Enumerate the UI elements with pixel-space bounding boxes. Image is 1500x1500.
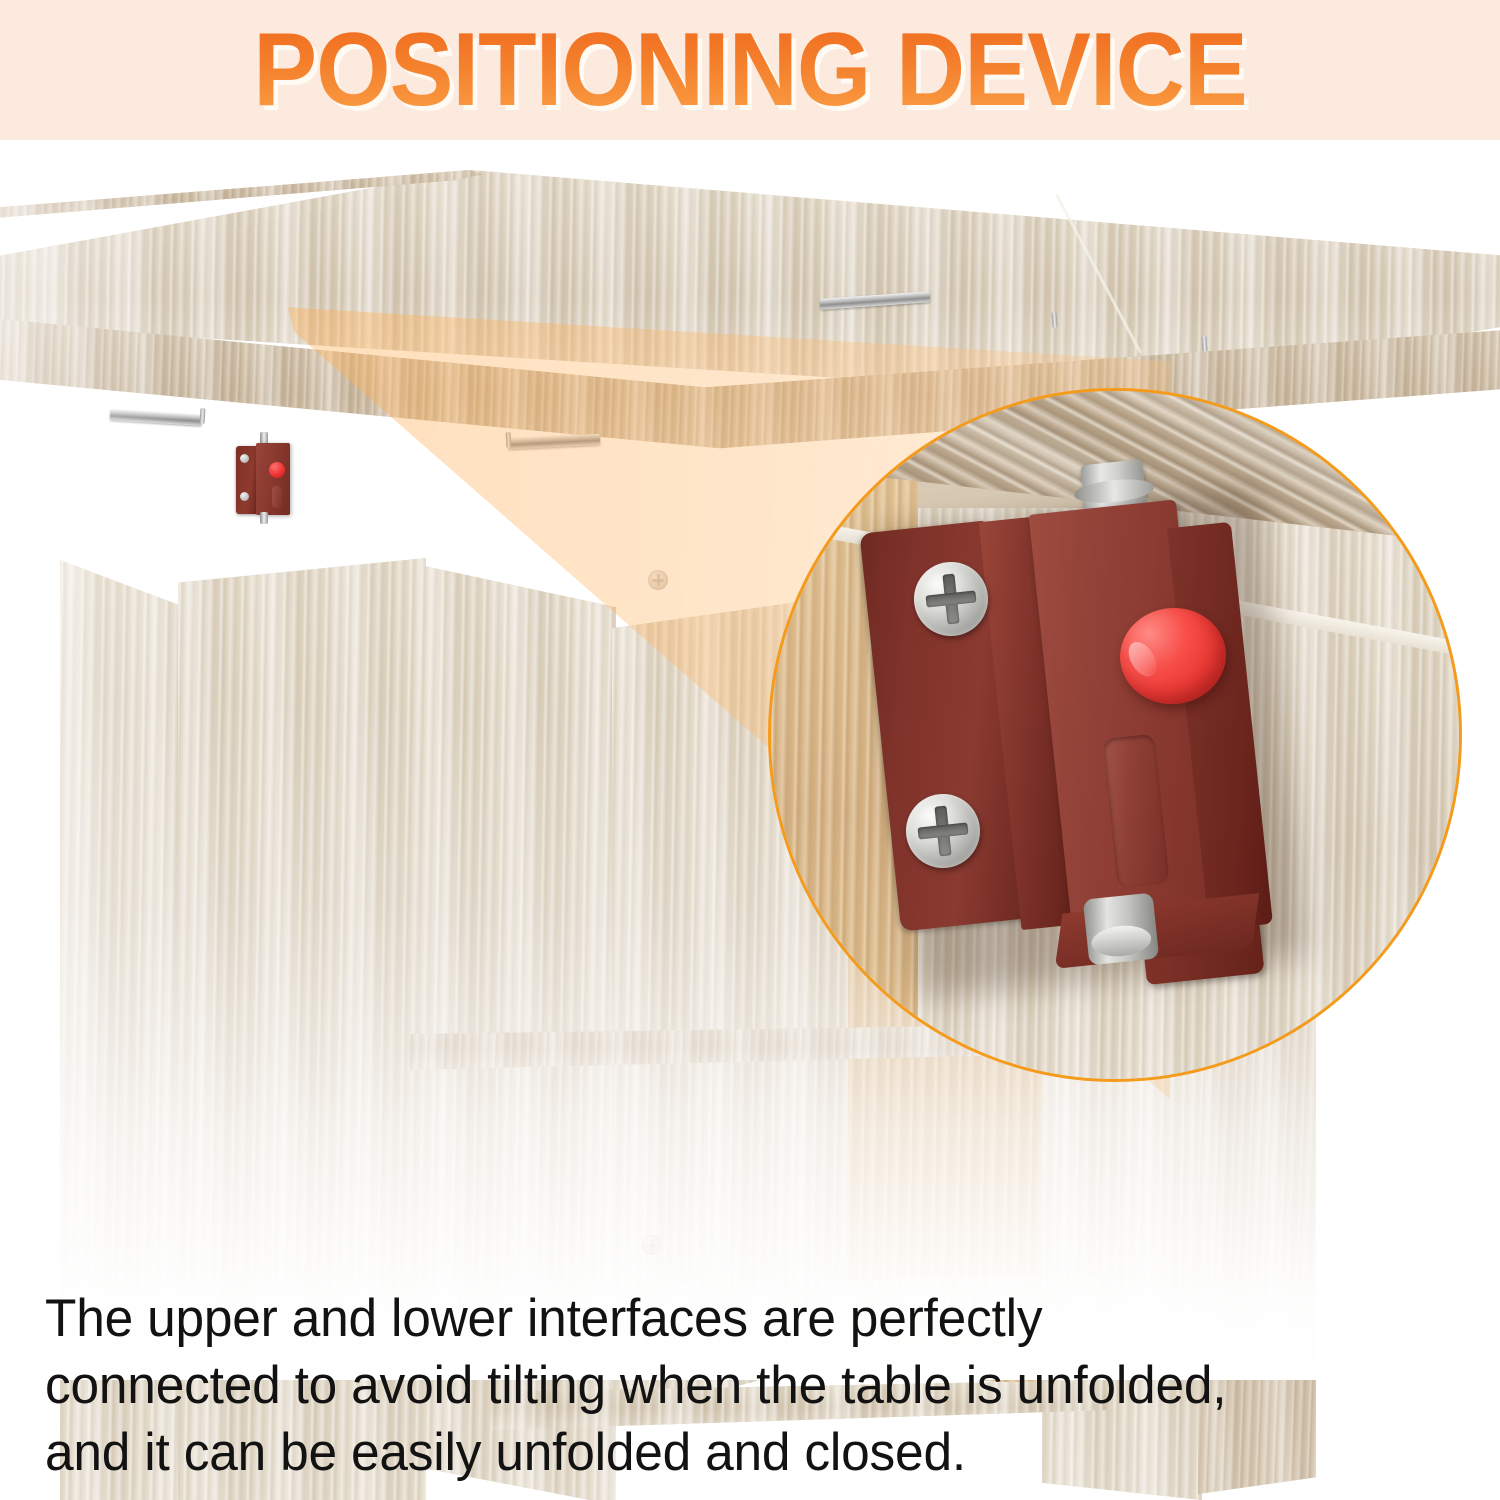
latch-pin-bottom-icon xyxy=(260,512,268,524)
magnifier-circle xyxy=(768,388,1462,1082)
phillips-screw-icon xyxy=(240,454,249,463)
phillips-screw-icon xyxy=(240,492,249,501)
hinge-icon xyxy=(110,409,202,426)
caption-line-2: connected to avoid tilting when the tabl… xyxy=(45,1352,1403,1419)
header-band: POSITIONING DEVICE xyxy=(0,0,1500,140)
magnifier-content xyxy=(768,388,1462,1082)
caption-line-3: and it can be easily unfolded and closed… xyxy=(45,1419,1403,1486)
hinge-icon xyxy=(508,434,600,450)
latch-pin-bottom-icon xyxy=(1083,893,1160,966)
positioning-latch-magnified xyxy=(888,468,1308,1008)
product-feature-image: POSITIONING DEVICE The upper and lower i… xyxy=(0,0,1500,1500)
red-push-button-icon xyxy=(269,462,285,478)
cam-screw-icon xyxy=(648,570,668,590)
screw-slot-horizontal xyxy=(926,590,977,607)
positioning-latch-small xyxy=(236,440,292,520)
caption-text: The upper and lower interfaces are perfe… xyxy=(45,1285,1403,1486)
caption-line-1: The upper and lower interfaces are perfe… xyxy=(45,1285,1403,1352)
hinge-pin-icon xyxy=(1051,312,1057,328)
latch-slot xyxy=(272,486,282,508)
page-title: POSITIONING DEVICE xyxy=(60,18,1440,122)
cam-screw-icon xyxy=(642,1235,662,1255)
screw-slot-horizontal xyxy=(918,822,969,839)
hinge-pin-icon xyxy=(1201,336,1207,352)
hinge-pin-icon xyxy=(200,408,206,424)
hinge-pin-icon xyxy=(506,432,512,448)
